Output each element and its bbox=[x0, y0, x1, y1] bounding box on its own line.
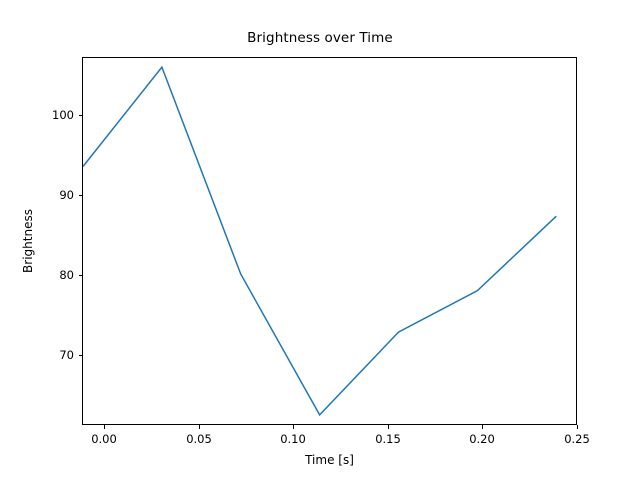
xtick-label-0.20: 0.20 bbox=[469, 432, 495, 446]
series-polyline bbox=[83, 67, 556, 415]
ytick-label-90: 90 bbox=[46, 188, 74, 202]
xtick-mark-0.25 bbox=[577, 425, 578, 429]
ytick-mark-100 bbox=[79, 115, 83, 116]
xtick-label-0.10: 0.10 bbox=[280, 432, 306, 446]
xtick-mark-0.10 bbox=[293, 425, 294, 429]
x-axis-label: Time [s] bbox=[82, 453, 577, 467]
plot-axes bbox=[82, 57, 577, 425]
xtick-label-0.05: 0.05 bbox=[186, 432, 212, 446]
xtick-mark-0.00 bbox=[104, 425, 105, 429]
matplotlib-figure: Brightness over Time 70 80 90 100 0.00 0… bbox=[0, 0, 640, 480]
ytick-mark-70 bbox=[79, 355, 83, 356]
ytick-label-70: 70 bbox=[46, 348, 74, 362]
ytick-mark-80 bbox=[79, 275, 83, 276]
ytick-mark-90 bbox=[79, 195, 83, 196]
line-series-brightness bbox=[83, 58, 576, 424]
xtick-label-0.00: 0.00 bbox=[91, 432, 117, 446]
xtick-mark-0.05 bbox=[199, 425, 200, 429]
y-axis-label: Brightness bbox=[21, 209, 35, 273]
chart-title: Brightness over Time bbox=[0, 30, 640, 46]
ytick-label-100: 100 bbox=[46, 108, 74, 122]
xtick-mark-0.15 bbox=[388, 425, 389, 429]
xtick-label-0.15: 0.15 bbox=[375, 432, 401, 446]
xtick-mark-0.20 bbox=[482, 425, 483, 429]
ytick-label-80: 80 bbox=[46, 268, 74, 282]
xtick-label-0.25: 0.25 bbox=[564, 432, 590, 446]
